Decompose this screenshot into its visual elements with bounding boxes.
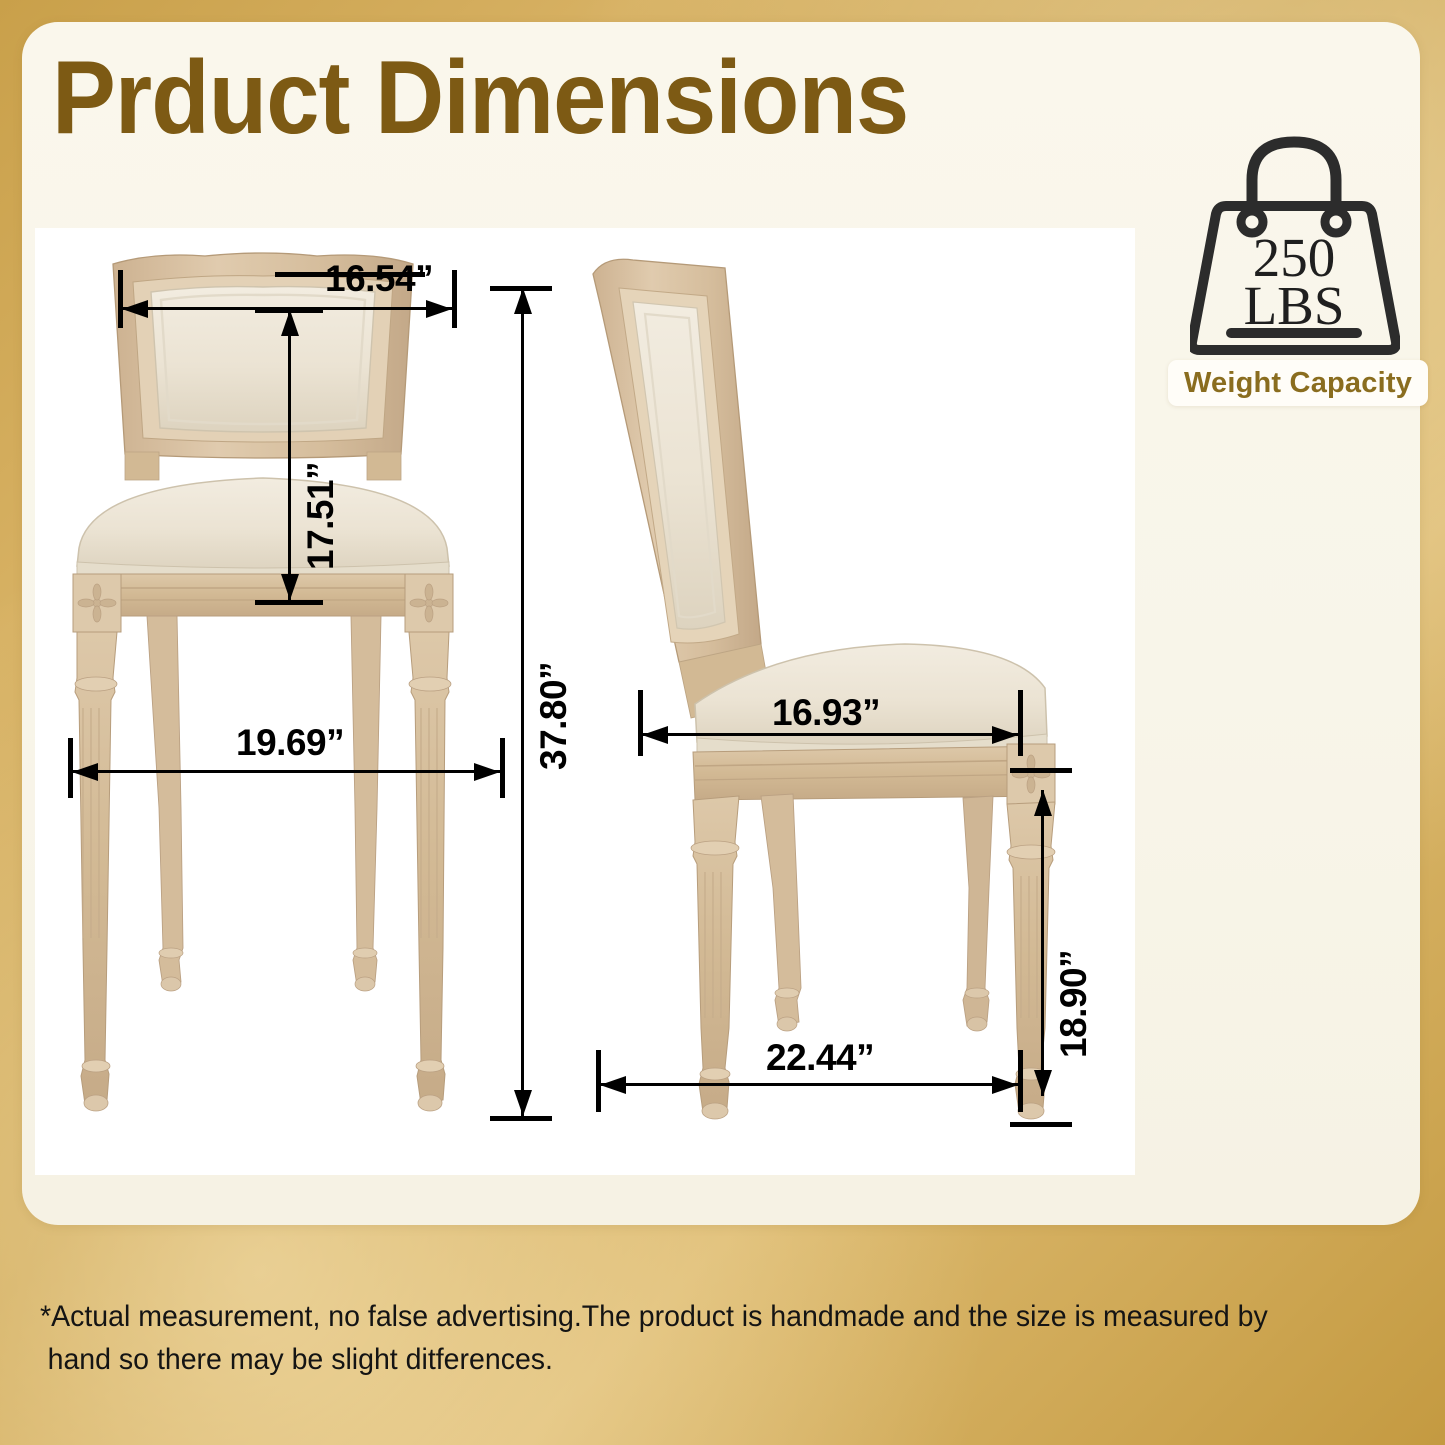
disclaimer-line-2: hand so there may be slight ditferences.: [40, 1339, 1332, 1382]
dimension-label-seat-depth: 16.93”: [772, 692, 880, 734]
dimension-label-overall-depth: 22.44”: [766, 1037, 874, 1079]
disclaimer-line-1: *Actual measurement, no false advertisin…: [40, 1296, 1332, 1339]
dimension-label-total-height: 37.80”: [533, 662, 575, 770]
weight-unit: LBS: [1244, 275, 1345, 336]
dimension-label-back-width: 16.54”: [325, 258, 433, 300]
front-chair-illustration: [55, 248, 555, 1138]
dimension-label-seat-height: 18.90”: [1053, 950, 1095, 1058]
product-image-panel: [35, 228, 1135, 1175]
weight-capacity-badge: 250 LBS Weight Capacity: [1168, 128, 1416, 418]
dimension-label-seat-width: 19.69”: [236, 722, 344, 764]
weight-capacity-pill: Weight Capacity: [1168, 360, 1428, 406]
dimension-label-back-height: 17.51”: [300, 462, 342, 570]
weight-capacity-label: Weight Capacity: [1184, 367, 1412, 400]
infographic-root: Prduct Dimensions: [0, 0, 1445, 1445]
disclaimer: *Actual measurement, no false advertisin…: [40, 1296, 1332, 1381]
shopping-bag-icon: 250 LBS: [1190, 128, 1400, 358]
page-title: Prduct Dimensions: [52, 42, 908, 154]
